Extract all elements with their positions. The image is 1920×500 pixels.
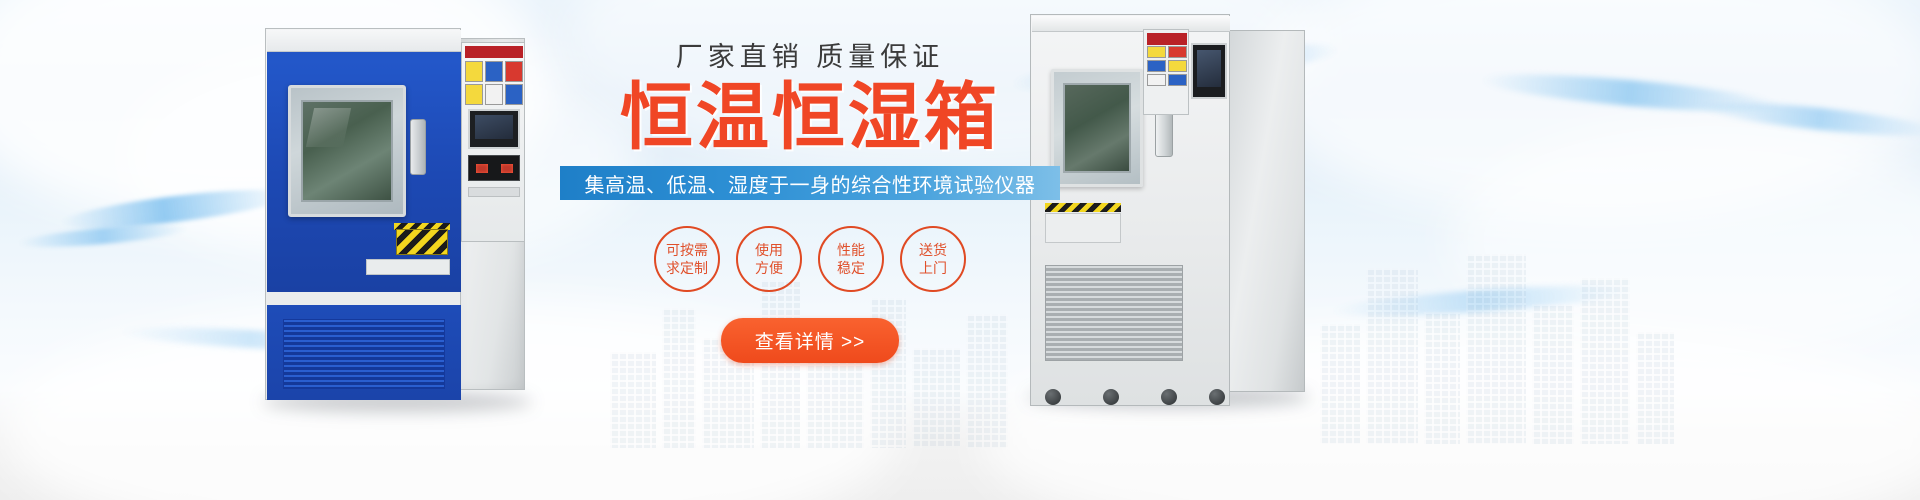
vent-grille-icon	[1045, 265, 1183, 361]
feature-badge-delivery[interactable]: 送货 上门	[900, 226, 966, 292]
brand-plate	[1147, 33, 1187, 45]
page-title: 恒温恒湿箱	[560, 79, 1060, 156]
control-column	[1143, 29, 1189, 115]
caster-row	[1039, 387, 1227, 405]
hmi-touchscreen	[1191, 43, 1227, 99]
blue-swoosh	[1700, 96, 1920, 143]
badge-line-1: 性能	[837, 241, 865, 259]
subtitle-bar: 集高温、低温、湿度于一身的综合性环境试验仪器	[560, 166, 1060, 200]
cloud-wash	[1450, 120, 1920, 360]
door-handle-icon	[1155, 111, 1173, 157]
product-image-left-chamber	[265, 28, 525, 400]
chamber-top-trim	[1032, 16, 1230, 32]
vent-grille-icon	[283, 319, 445, 389]
feature-badge-stable[interactable]: 性能 稳定	[818, 226, 884, 292]
chamber-top-trim	[267, 30, 461, 52]
chamber-side-panel	[1230, 30, 1305, 392]
chamber-front-panel	[1030, 14, 1230, 406]
warning-sticker-grid	[465, 61, 523, 105]
blue-swoosh	[18, 221, 189, 252]
spec-label	[366, 259, 450, 275]
promo-banner: 厂家直销 质量保证 恒温恒湿箱 集高温、低温、湿度于一身的综合性环境试验仪器 可…	[0, 0, 1920, 500]
blue-swoosh	[1479, 67, 1780, 119]
brand-plate	[465, 46, 523, 58]
door-window	[1063, 83, 1131, 173]
door-window	[301, 100, 393, 202]
control-column	[461, 42, 525, 242]
skyline-watermark	[1320, 244, 1680, 444]
tagline: 厂家直销 质量保证	[560, 44, 1060, 71]
badge-line-1: 使用	[755, 241, 783, 259]
badge-line-2: 上门	[919, 259, 947, 277]
door-handle-icon	[410, 119, 426, 175]
badge-line-2: 稳定	[837, 259, 865, 277]
hazard-stripe-icon	[396, 229, 448, 255]
subtitle-text: 集高温、低温、湿度于一身的综合性环境试验仪器	[585, 169, 1036, 198]
blue-swoosh	[1330, 280, 1631, 323]
blue-swoosh	[59, 182, 290, 236]
chamber-blue-lower	[267, 305, 461, 400]
cloud-wash	[1250, 0, 1920, 220]
badge-line-2: 求定制	[666, 259, 708, 277]
badge-line-2: 方便	[755, 259, 783, 277]
control-keypad	[468, 155, 520, 181]
chamber-front-panel	[265, 28, 461, 400]
indicator-lamp-icon	[476, 164, 488, 173]
chamber-door	[1051, 69, 1143, 187]
product-image-right-chamber	[1030, 14, 1305, 406]
banner-copy: 厂家直销 质量保证 恒温恒湿箱 集高温、低温、湿度于一身的综合性环境试验仪器 可…	[560, 44, 1060, 363]
feature-badge-easy-use[interactable]: 使用 方便	[736, 226, 802, 292]
indicator-lamp-icon	[501, 164, 513, 173]
hmi-touchscreen	[468, 109, 520, 149]
chamber-door	[288, 85, 406, 217]
feature-badge-row: 可按需 求定制 使用 方便 性能 稳定 送货 上门	[560, 226, 1060, 292]
badge-line-1: 送货	[919, 241, 947, 259]
nameplate	[468, 187, 520, 197]
cta-container: 查看详情 >>	[560, 318, 1060, 363]
feature-badge-custom[interactable]: 可按需 求定制	[654, 226, 720, 292]
badge-line-1: 可按需	[666, 241, 708, 259]
warning-sticker-grid	[1147, 46, 1187, 86]
view-details-button[interactable]: 查看详情 >>	[721, 318, 899, 363]
